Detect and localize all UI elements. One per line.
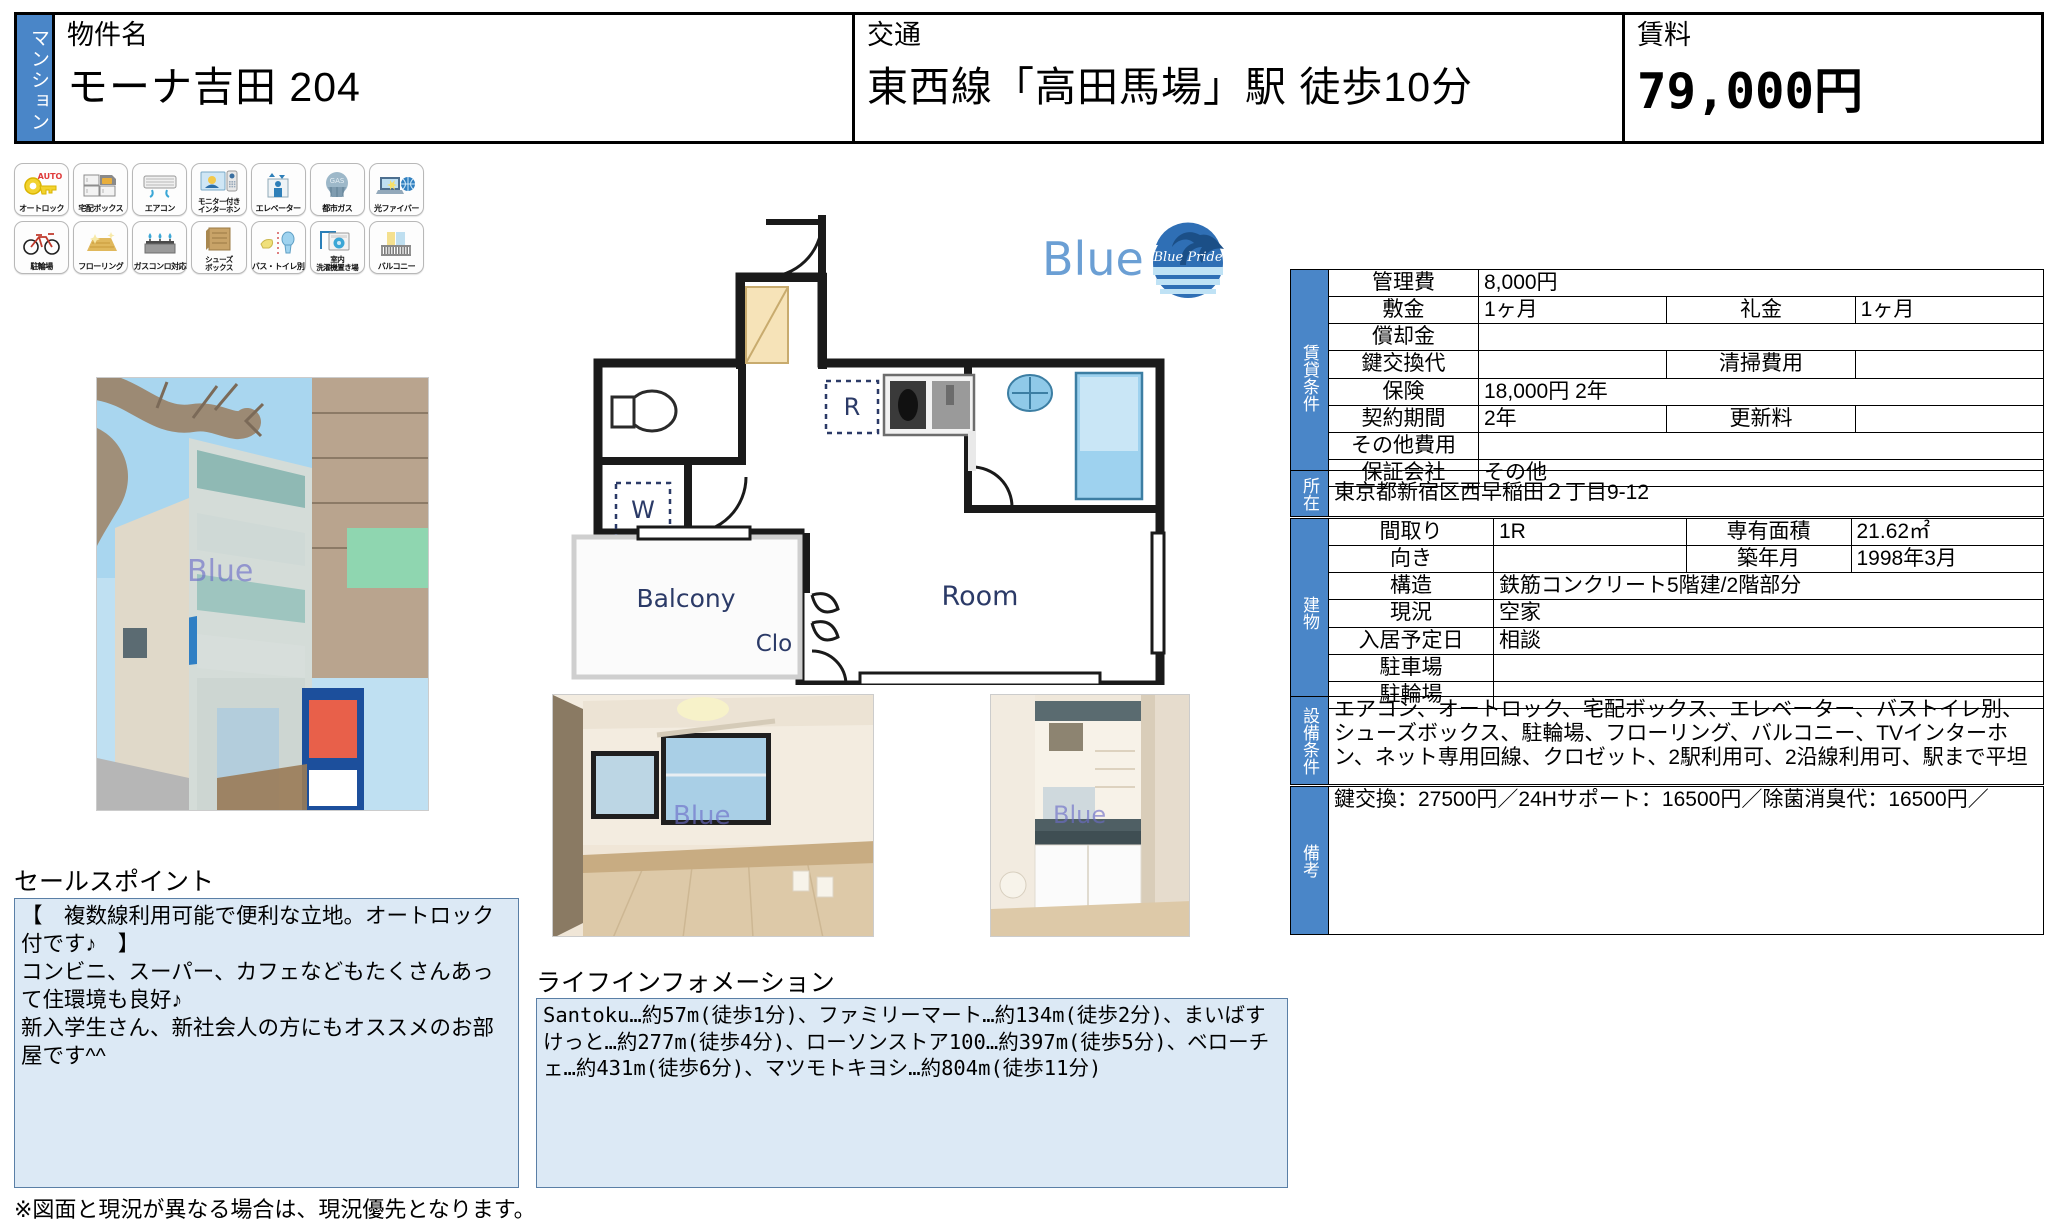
room-label: Room	[942, 581, 1019, 612]
amenity-label: 都市ガス	[311, 205, 364, 213]
floor-plan: W R Room	[560, 215, 1260, 685]
amenity-label: フローリング	[74, 263, 127, 271]
table-cell-value: 1ヶ月	[1479, 297, 1667, 324]
table-cell-value	[1494, 654, 2044, 681]
remarks-block: 備考 鍵交換：27500円／24Hサポート：16500円／除菌消臭代：16500…	[1290, 786, 2044, 935]
air-conditioner-icon	[133, 164, 186, 205]
table-cell-value: 1998年3月	[1851, 546, 2044, 573]
svg-text:AUTO: AUTO	[37, 172, 61, 181]
table-cell-value: 相談	[1494, 627, 2044, 654]
table-cell-value: 18,000円 2年	[1479, 378, 2044, 405]
table-cell-key: 鍵交換代	[1329, 351, 1479, 378]
amenity-badge-indoor-laundry: 室内洗濯機置き場	[310, 221, 365, 274]
amenity-label: ガスコンロ対応	[133, 263, 186, 271]
property-name-cell: 物件名 モーナ吉田 204	[55, 15, 855, 141]
equipment-text: エアコン、オートロック、宅配ボックス、エレベーター、バストイレ別、シューズボック…	[1329, 697, 2044, 785]
separate-bath-toilet-icon	[252, 222, 305, 263]
access-cell: 交通 東西線「高田馬場」駅 徒歩10分	[855, 15, 1625, 141]
amenity-label: 駐輪場	[15, 263, 68, 271]
balcony-icon	[370, 222, 423, 263]
table-cell-key: 礼金	[1667, 297, 1855, 324]
disclaimer-text: ※図面と現況が異なる場合は、現況優先となります。	[14, 1192, 536, 1224]
table-cell-value: 空家	[1494, 600, 2044, 627]
table-cell-key: 償却金	[1329, 324, 1479, 351]
table-row: 鍵交換代清掃費用	[1329, 351, 2044, 378]
amenity-label: エアコン	[133, 205, 186, 213]
table-cell-value: 8,000円	[1479, 270, 2044, 297]
washer-label: W	[631, 496, 655, 524]
rental-conditions-block: 賃貸条件 管理費8,000円敷金1ヶ月礼金1ヶ月償却金鍵交換代清掃費用保険18,…	[1290, 269, 2044, 487]
access-label: 交通	[867, 21, 1610, 51]
table-cell-key: 敷金	[1329, 297, 1479, 324]
rent-cell: 賃料 79,000円	[1625, 15, 2041, 141]
life-information-text: Santoku…約57m(徒歩1分)、ファミリーマート…約134m(徒歩2分)、…	[536, 998, 1288, 1188]
table-cell-key: 構造	[1329, 573, 1494, 600]
sales-point-heading: セールスポイント	[14, 862, 214, 898]
table-cell-key: 間取り	[1329, 519, 1494, 546]
amenity-icon-row-2: 駐輪場フローリングガスコンロ対応シューズボックスバス・トイレ別室内洗濯機置き場バ…	[14, 221, 424, 274]
table-cell-key: 契約期間	[1329, 405, 1479, 432]
table-cell-key: 専有面積	[1686, 519, 1851, 546]
amenity-badge-balcony: バルコニー	[369, 221, 424, 274]
svg-text:Blue Pride: Blue Pride	[1152, 250, 1222, 265]
property-name-value: モーナ吉田 204	[67, 65, 840, 110]
table-cell-key: 管理費	[1329, 270, 1479, 297]
remarks-tab: 備考	[1290, 786, 1328, 935]
elevator-icon	[252, 164, 305, 205]
blue-pride-logo: Blue Pride	[1152, 222, 1224, 298]
amenity-badge-city-gas: GAS都市ガス	[310, 163, 365, 216]
table-cell-value	[1479, 324, 2044, 351]
amenity-badge-gas-stove: ガスコンロ対応	[132, 221, 187, 274]
table-cell-value	[1479, 351, 1667, 378]
gas-stove-icon	[133, 222, 186, 263]
building-tab: 建物	[1290, 518, 1328, 709]
table-row: 入居予定日相談	[1329, 627, 2044, 654]
amenity-badge-monitor-intercom: モニター付きインターホン	[191, 163, 246, 216]
location-address: 東京都新宿区西早稲田２丁目9-12	[1329, 471, 2044, 517]
svg-text:GAS: GAS	[330, 177, 345, 185]
amenity-label: 光ファイバー	[370, 205, 423, 213]
amenity-label: エレベーター	[252, 205, 305, 213]
life-information-heading: ライフインフォメーション	[536, 963, 835, 999]
equipment-block: 設備条件 エアコン、オートロック、宅配ボックス、エレベーター、バストイレ別、シュ…	[1290, 696, 2044, 785]
flooring-icon	[74, 222, 127, 263]
table-row: 敷金1ヶ月礼金1ヶ月	[1329, 297, 2044, 324]
exterior-photo: Blue	[96, 377, 429, 811]
table-cell-value: 1ヶ月	[1855, 297, 2043, 324]
table-cell-key: 現況	[1329, 600, 1494, 627]
rent-label: 賃料	[1637, 21, 2029, 51]
table-cell-value: 21.62㎡	[1851, 519, 2044, 546]
table-cell-value: 1R	[1494, 519, 1687, 546]
table-row: 保険18,000円 2年	[1329, 378, 2044, 405]
table-cell-key: 向き	[1329, 546, 1494, 573]
closet-label: Clo	[756, 631, 793, 657]
table-row: 契約期間2年更新料	[1329, 405, 2044, 432]
floor-plan-brand: Blue	[1042, 232, 1144, 286]
location-block: 所在 東京都新宿区西早稲田２丁目9-12	[1290, 470, 2044, 517]
rental-conditions-tab: 賃貸条件	[1290, 269, 1328, 487]
amenity-icon-grid: AUTOオートロック宅配ボックスエアコンモニター付きインターホンエレベーターGA…	[14, 163, 424, 279]
amenity-label: オートロック	[15, 205, 68, 213]
amenity-label: 室内洗濯機置き場	[311, 256, 364, 271]
table-row: 構造鉄筋コンクリート5階建/2階部分	[1329, 573, 2044, 600]
delivery-box-icon	[74, 164, 127, 205]
amenity-label: シューズボックス	[192, 256, 245, 271]
amenity-badge-auto-lock: AUTOオートロック	[14, 163, 69, 216]
amenity-badge-bicycle-parking: 駐輪場	[14, 221, 69, 274]
table-cell-value	[1855, 351, 2043, 378]
indoor-laundry-icon	[311, 222, 364, 256]
category-tab: マンション	[17, 15, 55, 141]
amenity-badge-elevator: エレベーター	[251, 163, 306, 216]
table-row: 償却金	[1329, 324, 2044, 351]
building-block: 建物 間取り1R専有面積21.62㎡向き築年月1998年3月構造鉄筋コンクリート…	[1290, 518, 2044, 709]
table-cell-value	[1479, 432, 2044, 459]
room-photo: Blue	[552, 694, 874, 937]
optical-fiber-icon	[370, 164, 423, 205]
amenity-icon-row-1: AUTOオートロック宅配ボックスエアコンモニター付きインターホンエレベーターGA…	[14, 163, 424, 216]
location-tab: 所在	[1290, 470, 1328, 517]
amenity-label: モニター付きインターホン	[192, 198, 245, 213]
property-header: マンション 物件名 モーナ吉田 204 交通 東西線「高田馬場」駅 徒歩10分 …	[14, 12, 2044, 144]
amenity-badge-optical-fiber: 光ファイバー	[369, 163, 424, 216]
amenity-badge-flooring: フローリング	[73, 221, 128, 274]
city-gas-icon: GAS	[311, 164, 364, 205]
balcony-label: Balcony	[636, 584, 735, 613]
amenity-badge-delivery-box: 宅配ボックス	[73, 163, 128, 216]
table-cell-value	[1855, 405, 2043, 432]
table-row: 間取り1R専有面積21.62㎡	[1329, 519, 2044, 546]
table-row: 管理費8,000円	[1329, 270, 2044, 297]
monitor-intercom-icon	[192, 164, 245, 198]
sales-point-text: 【 複数線利用可能で便利な立地。オートロック付です♪ 】 コンビニ、スーパー、カ…	[14, 898, 519, 1188]
table-cell-key: 更新料	[1667, 405, 1855, 432]
equipment-tab: 設備条件	[1290, 696, 1328, 785]
access-value: 東西線「高田馬場」駅 徒歩10分	[867, 65, 1610, 110]
auto-lock-icon: AUTO	[15, 164, 68, 205]
rent-value: 79,000円	[1637, 65, 2029, 119]
table-cell-value: 2年	[1479, 405, 1667, 432]
table-cell-key: 清掃費用	[1667, 351, 1855, 378]
table-cell-key: 保険	[1329, 378, 1479, 405]
refrigerator-label: R	[844, 393, 861, 421]
table-row: 現況空家	[1329, 600, 2044, 627]
amenity-badge-shoes-box: シューズボックス	[191, 221, 246, 274]
table-row: その他費用	[1329, 432, 2044, 459]
shoes-box-icon	[192, 222, 245, 256]
table-row: 向き築年月1998年3月	[1329, 546, 2044, 573]
amenity-label: バス・トイレ別	[252, 263, 305, 271]
table-row: 駐車場	[1329, 654, 2044, 681]
table-cell-key: 駐車場	[1329, 654, 1494, 681]
kitchen-photo: Blue	[990, 694, 1190, 937]
bicycle-parking-icon	[15, 222, 68, 263]
amenity-label: 宅配ボックス	[74, 205, 127, 213]
table-cell-value	[1494, 546, 1687, 573]
amenity-badge-air-conditioner: エアコン	[132, 163, 187, 216]
table-cell-key: その他費用	[1329, 432, 1479, 459]
table-cell-key: 築年月	[1686, 546, 1851, 573]
amenity-label: バルコニー	[370, 263, 423, 271]
table-cell-value: 鉄筋コンクリート5階建/2階部分	[1494, 573, 2044, 600]
amenity-badge-separate-bath-toilet: バス・トイレ別	[251, 221, 306, 274]
property-name-label: 物件名	[67, 21, 840, 51]
table-cell-key: 入居予定日	[1329, 627, 1494, 654]
remarks-text: 鍵交換：27500円／24Hサポート：16500円／除菌消臭代：16500円／	[1329, 787, 2044, 935]
